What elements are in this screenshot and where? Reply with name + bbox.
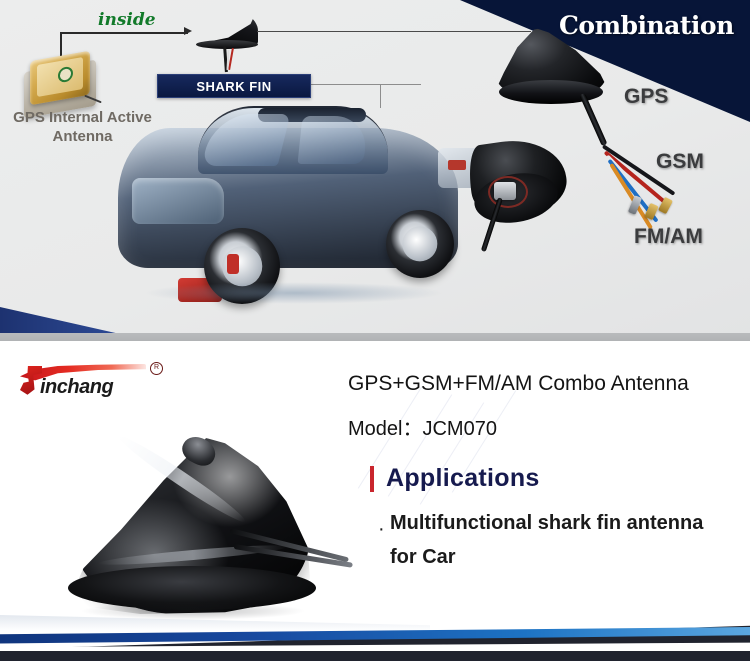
car-front-rim (402, 226, 437, 261)
car-rear-caliper (227, 254, 239, 274)
car-shadow (144, 282, 444, 304)
combo-antenna-top-image (495, 28, 615, 138)
label-fmam: FM/AM (634, 225, 703, 249)
logo-j-mark-icon (20, 366, 42, 396)
applications-line-2: for Car (390, 546, 456, 569)
leader-line-badge (309, 84, 421, 85)
car-cutaway-image (108, 92, 478, 322)
shark-fin-diagram-base (196, 40, 258, 49)
label-gsm: GSM (656, 150, 704, 174)
logo-wordmark: inchang (40, 376, 113, 399)
product-hero-image (62, 410, 362, 635)
inside-label: inside (98, 10, 156, 30)
product-marketing-image: Combination inside GPS Internal Active A… (0, 0, 750, 661)
arrow-head-icon (184, 27, 192, 35)
label-gps: GPS (624, 85, 668, 109)
combo-antenna-bottom-image (470, 140, 574, 236)
applications-heading: Applications (386, 464, 540, 493)
product-title: GPS+GSM+FM/AM Combo Antenna (348, 372, 689, 396)
car-front-wheel (386, 210, 454, 278)
leader-line-top (257, 31, 531, 32)
applications-line-1: Multifunctional shark fin antenna (390, 512, 703, 535)
applications-bullet-icon: · (378, 518, 385, 541)
car-engine-block (132, 178, 224, 224)
shark-fin-diagram-image (196, 8, 258, 56)
top-panel: Combination inside GPS Internal Active A… (0, 0, 750, 345)
applications-accent-bar (370, 466, 374, 492)
logo-registered-icon: R (150, 362, 163, 375)
navy-triangle-decoration (0, 307, 120, 334)
brand-logo: inchang R (14, 360, 174, 400)
arrow-stem-horizontal (60, 32, 188, 34)
product-shadow (80, 602, 306, 620)
product-model: Model：JCM070 (348, 412, 497, 441)
combo-antenna-top-cable-bundle (579, 93, 607, 147)
